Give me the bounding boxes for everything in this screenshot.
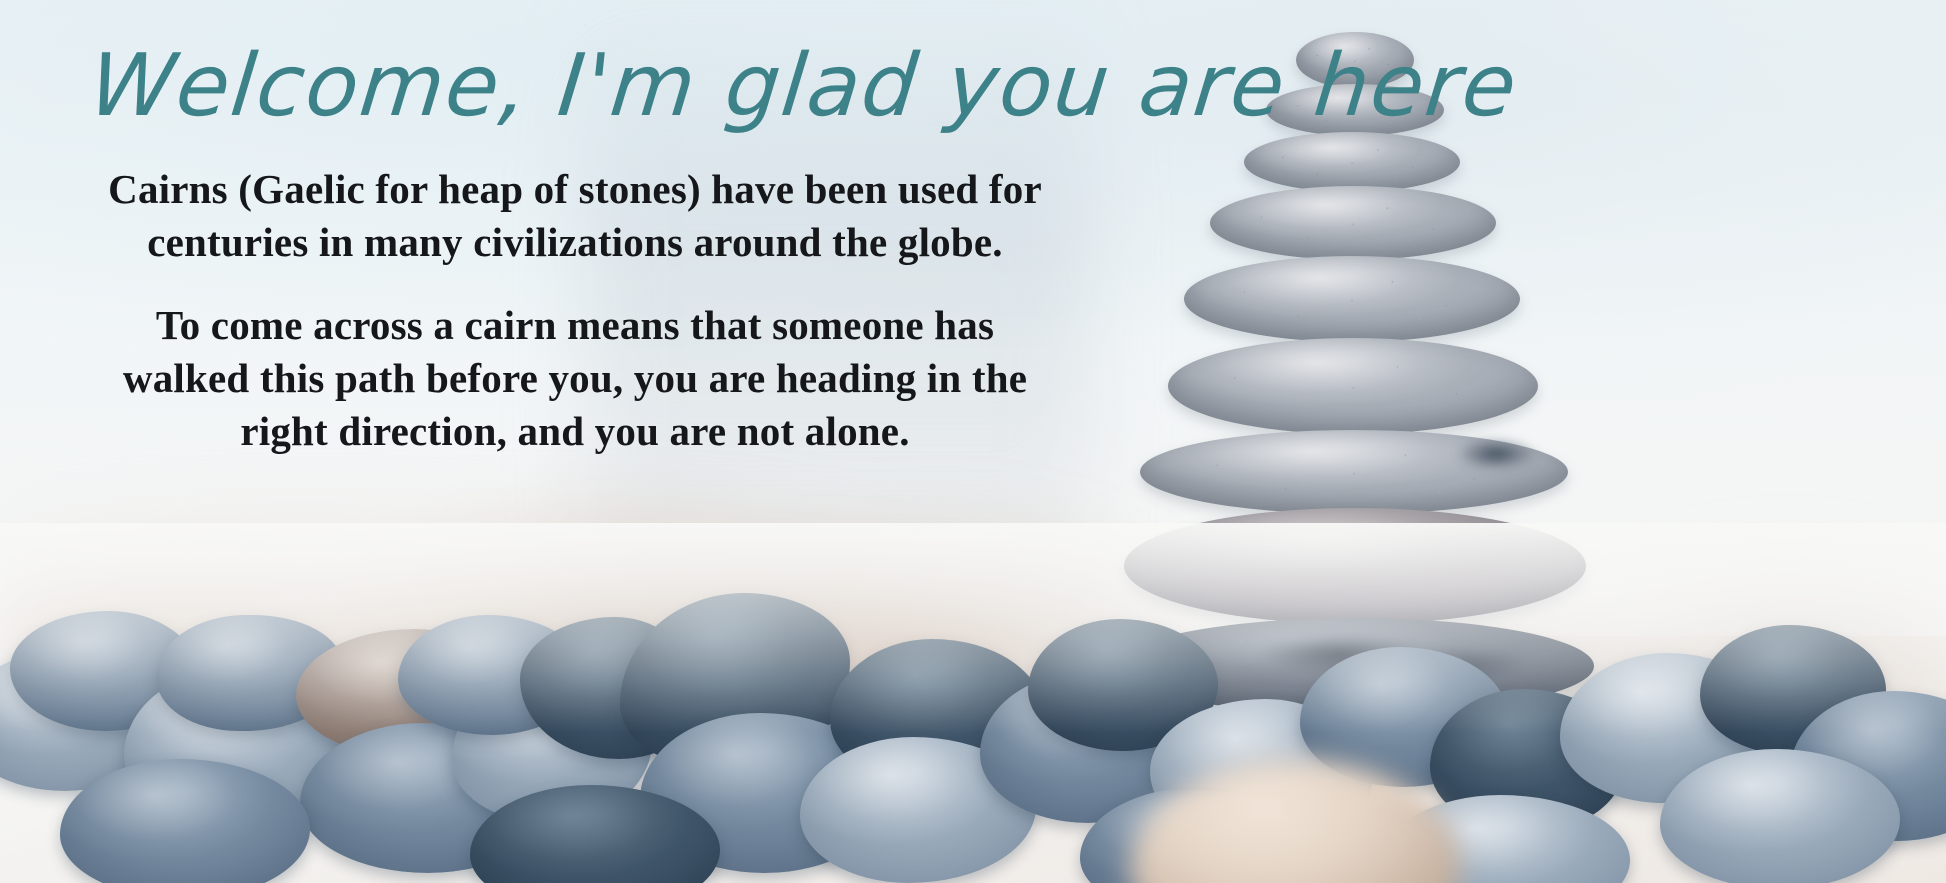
banner-content: Welcome, I'm glad you are here Cairns (G…: [0, 0, 1150, 458]
pebble: [10, 611, 200, 731]
cairn-stone-blotch-lower-right: [1394, 640, 1544, 688]
pebble: [1430, 689, 1626, 833]
pebble: [640, 713, 890, 873]
cairn-stone-8: [1124, 508, 1586, 624]
paragraph-cairn-definition: Cairns (Gaelic for heap of stones) have …: [96, 163, 1054, 269]
pebble: [1560, 653, 1774, 803]
pebble: [1080, 787, 1330, 883]
pebble: [1300, 647, 1508, 787]
pebble: [980, 673, 1196, 823]
cairn-stone-5: [1184, 256, 1520, 342]
body-copy: Cairns (Gaelic for heap of stones) have …: [0, 137, 1150, 457]
paragraph-cairn-meaning: To come across a cairn means that someon…: [96, 299, 1054, 458]
cairn-stone-4: [1210, 186, 1496, 260]
pebble-bed: [0, 523, 1946, 883]
cairn-stone-3: [1244, 132, 1460, 192]
welcome-banner: Welcome, I'm glad you are here Cairns (G…: [0, 0, 1946, 883]
pebble: [452, 673, 652, 823]
pebble: [470, 785, 720, 883]
pebble: [1028, 619, 1218, 751]
cairn-stone-blotch-upper: [1444, 434, 1548, 474]
pebble: [0, 651, 170, 791]
pebble: [156, 615, 342, 731]
pebble: [300, 723, 556, 873]
pebble: [620, 593, 850, 773]
cairn-stone-9: [1116, 618, 1594, 714]
pebble: [296, 629, 516, 757]
page-title: Welcome, I'm glad you are here: [0, 0, 1157, 137]
cairn-stone-blotch-lower: [1234, 626, 1444, 682]
pebble: [60, 759, 310, 883]
cairn-stone-7: [1140, 430, 1568, 514]
pebble: [800, 737, 1036, 883]
pebble: [1660, 749, 1900, 883]
cairn-stone-6: [1168, 338, 1538, 434]
background-sand-bokeh-right: [1284, 459, 1946, 724]
pebble: [1790, 691, 1946, 841]
pebble: [1700, 625, 1886, 755]
pebble: [830, 639, 1044, 789]
pebble: [520, 617, 702, 759]
foreground-blurred-pebble: [1130, 759, 1460, 883]
pebble: [1380, 795, 1630, 883]
pebble: [124, 669, 352, 829]
pebble: [398, 615, 586, 735]
pebble: [1150, 699, 1372, 849]
pebble-bed-haze: [0, 523, 1946, 733]
